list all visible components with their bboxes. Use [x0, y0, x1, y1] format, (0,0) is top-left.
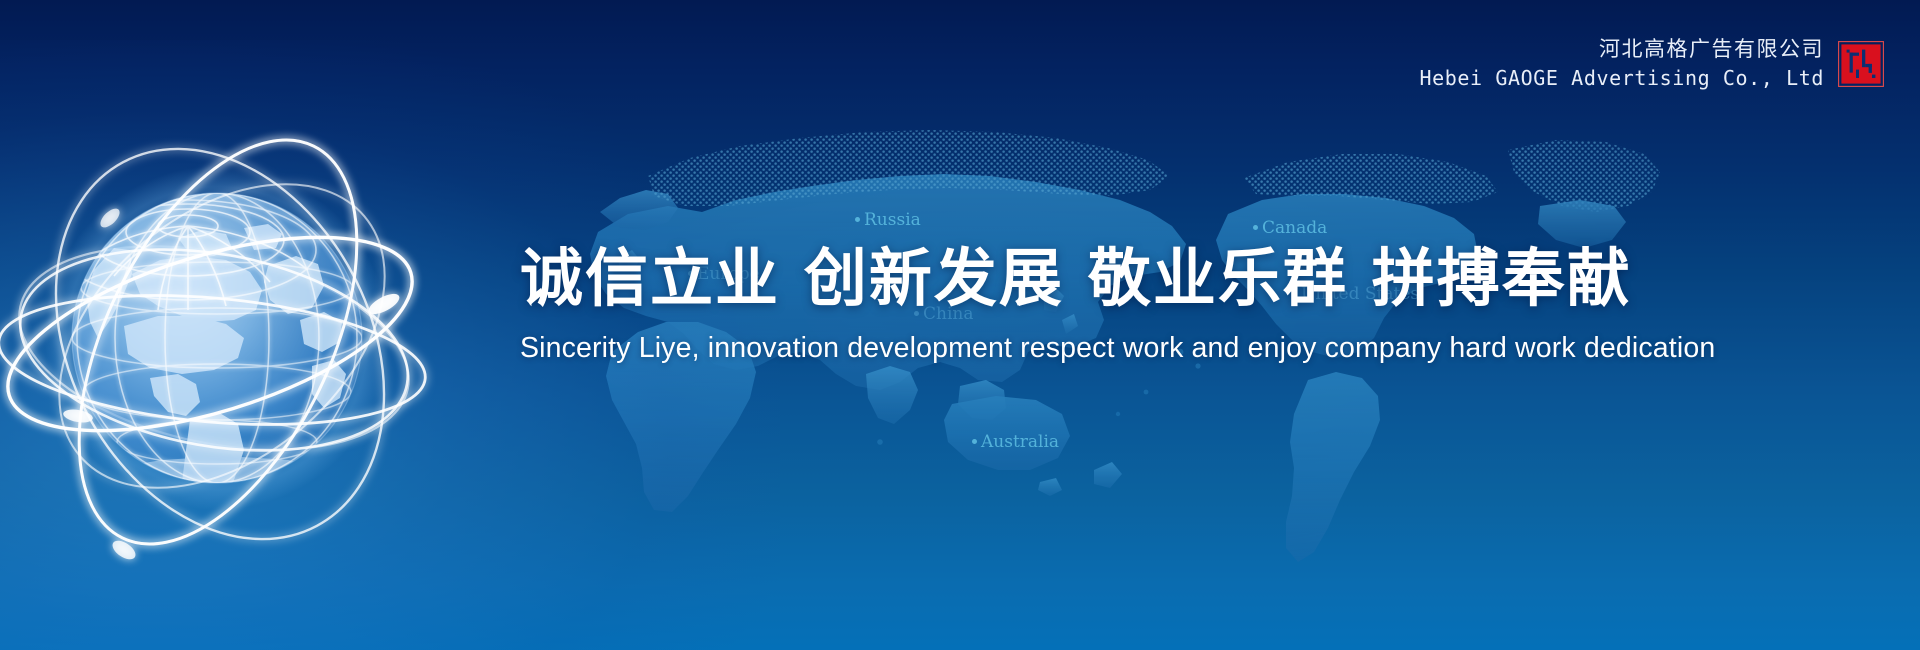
slogan-chinese: 诚信立业 创新发展 敬业乐群 拼搏奉献: [520, 246, 1860, 312]
company-identity: 河北高格广告有限公司 Hebei GAOGE Advertising Co., …: [1419, 36, 1884, 91]
company-name-group: 河北高格广告有限公司 Hebei GAOGE Advertising Co., …: [1419, 36, 1824, 91]
map-label-canada: Canada: [1253, 218, 1327, 238]
map-marker-dot: [855, 217, 860, 222]
map-label-australia: Australia: [972, 432, 1059, 452]
orbiting-globe-network-icon: [0, 98, 452, 568]
company-culture-banner: Russia Canada Europe China United States…: [0, 0, 1920, 650]
gaoge-monogram-logo: [1838, 41, 1884, 87]
map-label-russia: Russia: [855, 210, 921, 230]
company-name-en: Hebei GAOGE Advertising Co., Ltd: [1419, 66, 1824, 92]
slogan-english: Sincerity Liye, innovation development r…: [520, 332, 1860, 365]
map-marker-dot: [972, 439, 977, 444]
slogan-block: 诚信立业 创新发展 敬业乐群 拼搏奉献 Sincerity Liye, inno…: [520, 246, 1860, 365]
map-marker-dot: [1253, 225, 1258, 230]
company-name-cn: 河北高格广告有限公司: [1419, 36, 1824, 63]
